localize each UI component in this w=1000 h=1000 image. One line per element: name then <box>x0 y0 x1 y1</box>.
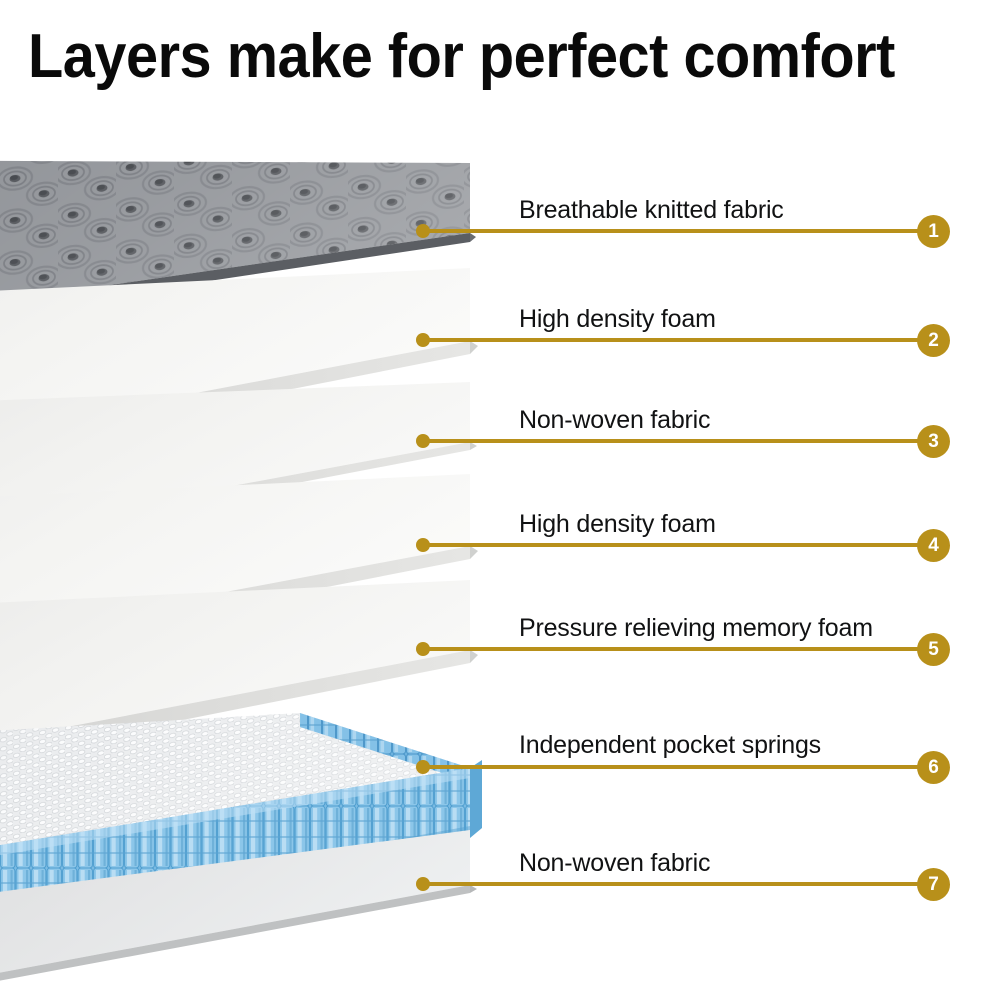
layer-label-5: Pressure relieving memory foam <box>519 614 873 643</box>
layer-label-6: Independent pocket springs <box>519 731 821 760</box>
callout-labels-group: Breathable knitted fabric 1 High density… <box>0 0 1000 1000</box>
layer-label-2: High density foam <box>519 305 716 334</box>
layer-label-3: Non-woven fabric <box>519 406 710 435</box>
layer-badge-5[interactable]: 5 <box>917 633 950 666</box>
layer-badge-6[interactable]: 6 <box>917 751 950 784</box>
layer-badge-2[interactable]: 2 <box>917 324 950 357</box>
infographic-canvas: Layers make for perfect comfort <box>0 0 1000 1000</box>
layer-badge-4[interactable]: 4 <box>917 529 950 562</box>
layer-label-4: High density foam <box>519 510 716 539</box>
layer-badge-3[interactable]: 3 <box>917 425 950 458</box>
layer-label-1: Breathable knitted fabric <box>519 196 784 225</box>
layer-label-7: Non-woven fabric <box>519 849 710 878</box>
layer-badge-7[interactable]: 7 <box>917 868 950 901</box>
layer-badge-1[interactable]: 1 <box>917 215 950 248</box>
